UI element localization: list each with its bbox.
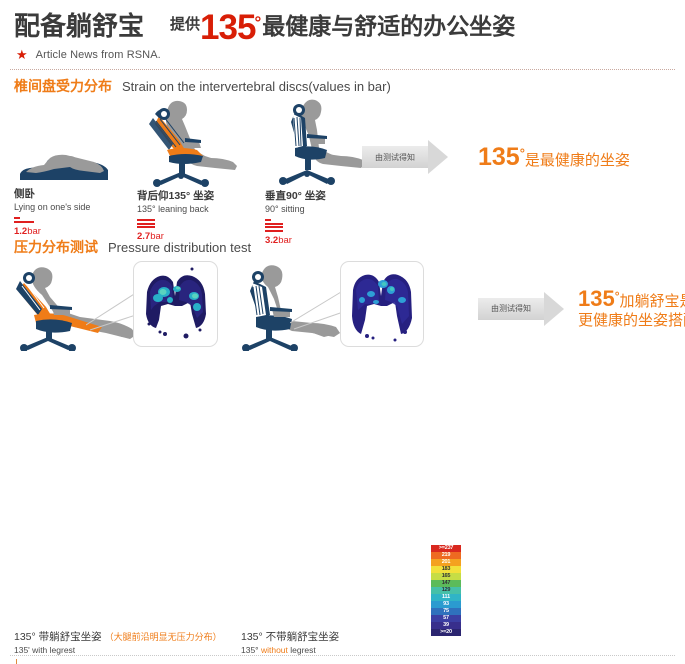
chair-upright-90-icon bbox=[265, 96, 369, 188]
title-degree-symbol: ° bbox=[254, 13, 261, 33]
source-line: ★ Article News from RSNA. bbox=[0, 48, 685, 61]
section2-heading-en: Pressure distribution test bbox=[108, 240, 251, 255]
legend-row: 201 bbox=[431, 559, 461, 566]
legend-row: >=20 bbox=[431, 629, 461, 636]
strain-item-2: 背后仰135° 坐姿 135° leaning back 2.7bar bbox=[137, 96, 241, 242]
strain-item-2-barmark bbox=[137, 219, 155, 228]
pressure-card-2 bbox=[340, 261, 424, 347]
pressure-caption-1-cn: 135° 带躺舒宝坐姿 （大腿前沿明显无压力分布） bbox=[14, 629, 222, 644]
pressure-map-without-legrest bbox=[341, 262, 423, 346]
title-provide: 提供 bbox=[170, 10, 200, 41]
section2-heading-cn: 压力分布测试 bbox=[14, 237, 98, 257]
person-lying-on-side-icon bbox=[14, 136, 114, 186]
legend-row: 147 bbox=[431, 580, 461, 587]
strain-item-1-caption-cn: 侧卧 bbox=[14, 186, 114, 201]
legend-row: 111 bbox=[431, 594, 461, 601]
legend-row: 183 bbox=[431, 566, 461, 573]
section1-arrow-label: 由测试得知 bbox=[375, 152, 415, 163]
legend-row: 93 bbox=[431, 601, 461, 608]
section-pressure: 压力分布测试 Pressure distribution test bbox=[0, 237, 685, 357]
pressure-card-1 bbox=[133, 261, 218, 347]
title-chinese: 配备躺舒宝 bbox=[14, 11, 144, 41]
pressure-caption-2: 135° 不带躺舒宝坐姿 135° without legrest bbox=[241, 629, 339, 655]
pressure-caption-1-en: 135' with legrest bbox=[14, 645, 222, 655]
star-icon: ★ bbox=[16, 48, 28, 61]
section1-heading: 椎间盘受力分布 Strain on the intervertebral dis… bbox=[0, 72, 685, 96]
legend-row: 165 bbox=[431, 573, 461, 580]
source-text: Article News from RSNA. bbox=[36, 49, 161, 61]
header-divider bbox=[10, 69, 675, 70]
section2-body: >=23721920118316514712911193755739>=20 由… bbox=[0, 257, 685, 357]
section2-arrow-label: 由测试得知 bbox=[491, 303, 531, 314]
pressure-caption-1: 135° 带躺舒宝坐姿 （大腿前沿明显无压力分布） 135' with legr… bbox=[14, 629, 222, 655]
pressure-caption-2-en: 135° without legrest bbox=[241, 645, 339, 655]
strain-item-3-caption-en: 90° sitting bbox=[265, 204, 369, 214]
title-angle: 135 bbox=[200, 13, 255, 43]
section2-conclusion-text: 135°加躺舒宝是 更健康的坐姿搭配 bbox=[578, 287, 685, 330]
legend-row: 75 bbox=[431, 608, 461, 615]
arrow-head-icon-2 bbox=[544, 292, 564, 326]
section1-conclusion: 由测试得知 135°是最健康的坐姿 bbox=[362, 140, 630, 174]
strain-item-3-barmark bbox=[265, 219, 283, 232]
page-header: 配备躺舒宝 提供 135 ° 最健康与舒适的办公坐姿 ★ Article New… bbox=[0, 0, 685, 72]
strain-item-3-caption-cn: 垂直90° 坐姿 bbox=[265, 188, 369, 203]
section1-heading-en: Strain on the intervertebral discs(value… bbox=[122, 79, 391, 94]
strain-item-2-caption-en: 135° leaning back bbox=[137, 204, 241, 214]
strain-item-1: 侧卧 Lying on one's side 1.2bar bbox=[14, 136, 114, 237]
section2-arrow: 由测试得知 bbox=[478, 298, 544, 320]
title-subject: 最健康与舒适的办公坐姿 bbox=[262, 11, 515, 41]
pressure-scale-legend: >=23721920118316514712911193755739>=20 bbox=[431, 545, 461, 636]
footer-tick bbox=[16, 659, 17, 664]
section1-body: 侧卧 Lying on one's side 1.2bar bbox=[0, 96, 685, 236]
legend-row: 39 bbox=[431, 622, 461, 629]
section2-conclusion: 由测试得知 135°加躺舒宝是 更健康的坐姿搭配 bbox=[478, 287, 685, 330]
strain-item-1-value: 1.2bar bbox=[14, 226, 114, 237]
footer-divider bbox=[10, 655, 675, 656]
section-strain: 椎间盘受力分布 Strain on the intervertebral dis… bbox=[0, 72, 685, 237]
pressure-caption-2-cn: 135° 不带躺舒宝坐姿 bbox=[241, 629, 339, 644]
legend-row: >=237 bbox=[431, 545, 461, 552]
page-title: 配备躺舒宝 提供 135 ° 最健康与舒适的办公坐姿 bbox=[0, 10, 685, 41]
pressure-map-with-legrest bbox=[134, 262, 217, 346]
chair-reclined-135-icon bbox=[137, 96, 241, 188]
section1-heading-cn: 椎间盘受力分布 bbox=[14, 76, 112, 96]
section1-arrow: 由测试得知 bbox=[362, 146, 428, 168]
legend-row: 219 bbox=[431, 552, 461, 559]
section2-heading: 压力分布测试 Pressure distribution test bbox=[0, 237, 685, 257]
pressure-caption-1-note: （大腿前沿明显无压力分布） bbox=[105, 632, 222, 642]
strain-item-2-caption-cn: 背后仰135° 坐姿 bbox=[137, 188, 241, 203]
legend-row: 57 bbox=[431, 615, 461, 622]
strain-item-1-caption-en: Lying on one's side bbox=[14, 202, 114, 212]
legend-row: 129 bbox=[431, 587, 461, 594]
section1-conclusion-text: 135°是最健康的坐姿 bbox=[478, 143, 630, 172]
arrow-head-icon bbox=[428, 140, 448, 174]
strain-item-1-barmark bbox=[14, 217, 34, 223]
strain-item-3: 垂直90° 坐姿 90° sitting 3.2bar bbox=[265, 96, 369, 246]
